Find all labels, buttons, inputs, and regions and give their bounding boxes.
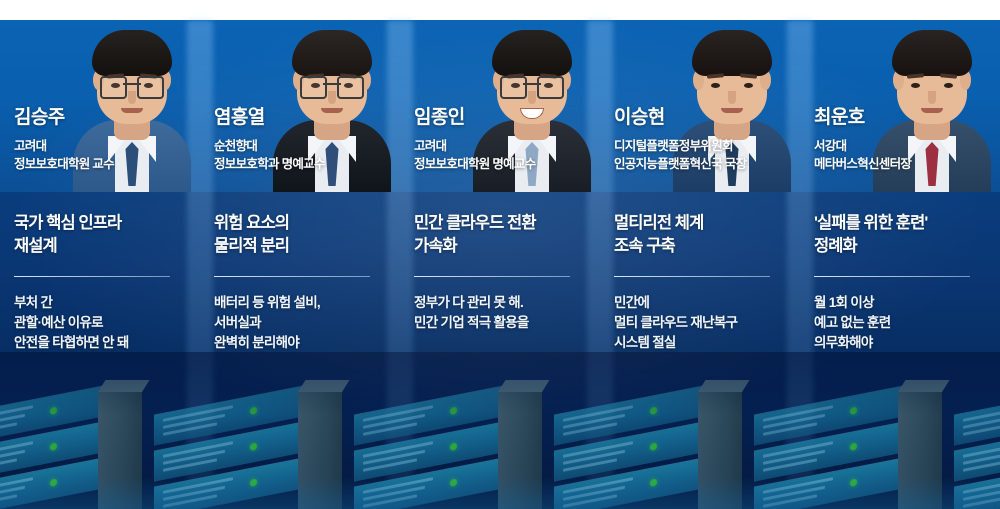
recommendation-detail-line2: 관할·예산 이유로 [14,313,194,333]
expert-identity: 염흥열순천향대정보보호학과 명예교수 [214,108,400,173]
expert-column-5: 최운호서강대메타버스혁신센터장'실패를 위한 훈련'정례화월 1회 이상예고 없… [800,20,1000,509]
expert-affiliation-line2: 정보보호대학원 교수 [14,156,200,174]
infographic-root: 김승주고려대정보보호대학원 교수국가 핵심 인프라재설계부처 간관할·예산 이유… [0,0,1000,509]
expert-affiliation-line1: 서강대 [814,138,1000,156]
expert-identity: 김승주고려대정보보호대학원 교수 [14,108,200,173]
recommendation-detail-line1: 월 1회 이상 [814,293,994,313]
expert-recommendation: 위험 요소의물리적 분리배터리 등 위험 설비,서버실과완벽히 분리해야 [214,212,394,354]
recommendation-headline-line2: 가속화 [414,235,594,258]
recommendation-detail-line2: 멀티 클라우드 재난복구 [614,313,794,333]
recommendation-headline-line1: 민간 클라우드 전환 [414,212,594,235]
eyeglass-bridge [323,83,341,85]
recommendation-detail-line1: 부처 간 [14,293,194,313]
recommendation-detail-line2: 민간 기업 적극 활용을 [414,313,594,333]
recommendation-headline-line2: 조속 구축 [614,235,794,258]
expert-column-3: 임종인고려대정보보호대학원 명예교수민간 클라우드 전환가속화정부가 다 관리 … [400,20,600,509]
eyeglasses-icon [100,76,164,96]
eyeglass-lens [500,76,527,99]
expert-recommendation: 멀티리전 체계조속 구축민간에멀티 클라우드 재난복구시스템 절실 [614,212,794,354]
recommendation-headline-line1: '실패를 위한 훈련' [814,212,994,235]
divider-rule [814,276,970,277]
recommendation-detail-line1: 배터리 등 위험 설비, [214,293,394,313]
recommendation-detail-line2: 예고 없는 훈련 [814,313,994,333]
expert-affiliation-line2: 메타버스혁신센터장 [814,156,1000,174]
expert-column-2: 염흥열순천향대정보보호학과 명예교수위험 요소의물리적 분리배터리 등 위험 설… [200,20,400,509]
portrait-hair [492,30,572,76]
eyeglass-lens [100,76,127,99]
expert-identity: 최운호서강대메타버스혁신센터장 [814,108,1000,173]
expert-column-4: 이승현디지털플랫폼정부위원회인공지능플랫폼혁신국 국장멀티리전 체계조속 구축민… [600,20,800,509]
divider-rule [614,276,770,277]
expert-affiliation-line2: 인공지능플랫폼혁신국 국장 [614,156,800,174]
recommendation-detail-line3: 안전을 타협하면 안 돼 [14,333,194,353]
recommendation-headline-line1: 위험 요소의 [214,212,394,235]
eyeglass-bridge [123,83,141,85]
eyeglass-bridge [523,83,541,85]
expert-affiliation-line1: 디지털플랫폼정부위원회 [614,138,800,156]
portrait-eye [744,83,753,88]
portrait-hair [292,30,372,76]
expert-recommendation: 국가 핵심 인프라재설계부처 간관할·예산 이유로안전을 타협하면 안 돼 [14,212,194,354]
expert-name: 김승주 [14,108,200,129]
recommendation-detail-line3: 시스템 절실 [614,333,794,353]
eyeglasses-icon [500,76,564,96]
portrait-eyebrow [940,73,957,78]
eyeglass-lens [537,76,564,99]
expert-recommendation: '실패를 위한 훈련'정례화월 1회 이상예고 없는 훈련의무화해야 [814,212,994,354]
portrait-eyebrow [740,73,757,78]
eyeglasses-icon [300,76,364,96]
expert-affiliation-line1: 고려대 [414,138,600,156]
expert-affiliation-line2: 정보보호학과 명예교수 [214,156,400,174]
expert-identity: 임종인고려대정보보호대학원 명예교수 [414,108,600,173]
recommendation-headline-line2: 정례화 [814,235,994,258]
portrait-eye [944,83,953,88]
expert-affiliation-line1: 순천향대 [214,138,400,156]
eyeglass-lens [137,76,164,99]
portrait-hair [692,30,772,76]
recommendation-detail-line2: 서버실과 [214,313,394,333]
divider-rule [14,276,170,277]
expert-name: 최운호 [814,108,1000,129]
expert-name: 임종인 [414,108,600,129]
expert-affiliation-line2: 정보보호대학원 명예교수 [414,156,600,174]
portrait-eye [711,83,720,88]
recommendation-headline-line1: 멀티리전 체계 [614,212,794,235]
expert-affiliation-line1: 고려대 [14,138,200,156]
divider-rule [214,276,370,277]
expert-name: 염흥열 [214,108,400,129]
expert-name: 이승현 [614,108,800,129]
eyeglass-lens [300,76,327,99]
recommendation-headline-line1: 국가 핵심 인프라 [14,212,194,235]
recommendation-headline-line2: 재설계 [14,235,194,258]
expert-columns: 김승주고려대정보보호대학원 교수국가 핵심 인프라재설계부처 간관할·예산 이유… [0,20,1000,509]
recommendation-detail-line3: 완벽히 분리해야 [214,333,394,353]
portrait-eyebrow [907,73,924,78]
portrait-hair [892,30,972,76]
portrait-hair [92,30,172,76]
divider-rule [414,276,570,277]
expert-column-1: 김승주고려대정보보호대학원 교수국가 핵심 인프라재설계부처 간관할·예산 이유… [0,20,200,509]
recommendation-headline-line2: 물리적 분리 [214,235,394,258]
recommendation-detail-line3: 의무화해야 [814,333,994,353]
portrait-nose [728,91,736,104]
eyeglass-lens [337,76,364,99]
expert-identity: 이승현디지털플랫폼정부위원회인공지능플랫폼혁신국 국장 [614,108,800,173]
portrait-eyebrow [707,73,724,78]
portrait-eye [911,83,920,88]
expert-recommendation: 민간 클라우드 전환가속화정부가 다 관리 못 해.민간 기업 적극 활용을 [414,212,594,333]
recommendation-detail-line1: 민간에 [614,293,794,313]
recommendation-detail-line1: 정부가 다 관리 못 해. [414,293,594,313]
portrait-nose [928,91,936,104]
